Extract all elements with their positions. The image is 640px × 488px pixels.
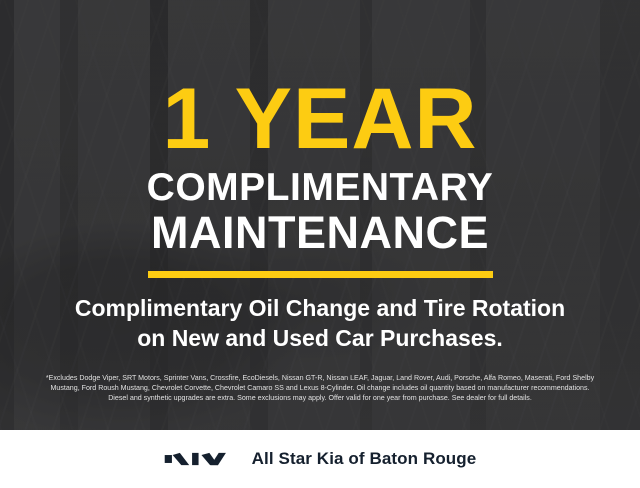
hero-content: 1 YEAR COMPLIMENTARY MAINTENANCE Complim…: [0, 0, 640, 430]
yellow-divider-rule: [148, 271, 493, 278]
offer-description-line-1: Complimentary Oil Change and Tire Rotati…: [75, 293, 565, 323]
disclaimer-line-2: Mustang, Ford Roush Mustang, Chevrolet C…: [13, 383, 627, 393]
kia-logo-icon: [164, 450, 236, 468]
offer-description: Complimentary Oil Change and Tire Rotati…: [75, 293, 565, 354]
headline-maintenance: MAINTENANCE: [151, 210, 489, 255]
offer-description-line-2: on New and Used Car Purchases.: [75, 323, 565, 353]
service-offer-banner: 1 YEAR COMPLIMENTARY MAINTENANCE Complim…: [0, 0, 640, 488]
dealer-footer: All Star Kia of Baton Rouge: [0, 430, 640, 488]
hero-section: 1 YEAR COMPLIMENTARY MAINTENANCE Complim…: [0, 0, 640, 430]
disclaimer-text: *Excludes Dodge Viper, SRT Motors, Sprin…: [13, 373, 627, 403]
headline-year: 1 YEAR: [162, 78, 477, 161]
dealer-name: All Star Kia of Baton Rouge: [252, 449, 477, 469]
disclaimer-line-1: *Excludes Dodge Viper, SRT Motors, Sprin…: [13, 373, 627, 383]
disclaimer-line-3: Diesel and synthetic upgrades are extra.…: [13, 393, 627, 403]
headline-complimentary: COMPLIMENTARY: [147, 168, 494, 207]
